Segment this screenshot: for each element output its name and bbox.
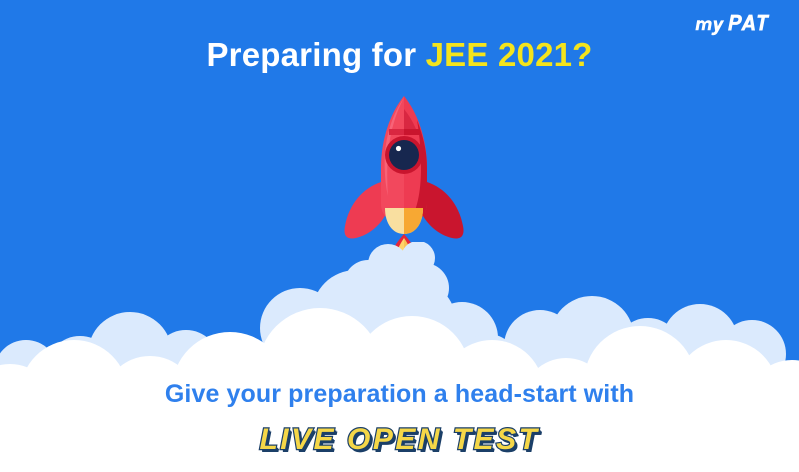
promo-banner: Preparing for JEE 2021? [0,0,799,472]
cta-live-open-test[interactable]: LIVE OPEN TEST [0,423,799,457]
page-title: Preparing for JEE 2021? [0,33,799,77]
subheadline: Give your preparation a head-start with [0,380,799,409]
bottom-copy: Give your preparation a head-start with … [0,350,799,472]
headline-highlight: JEE 2021? [426,36,593,73]
mypat-logo[interactable] [695,10,781,36]
headline-prefix: Preparing for [206,36,425,73]
